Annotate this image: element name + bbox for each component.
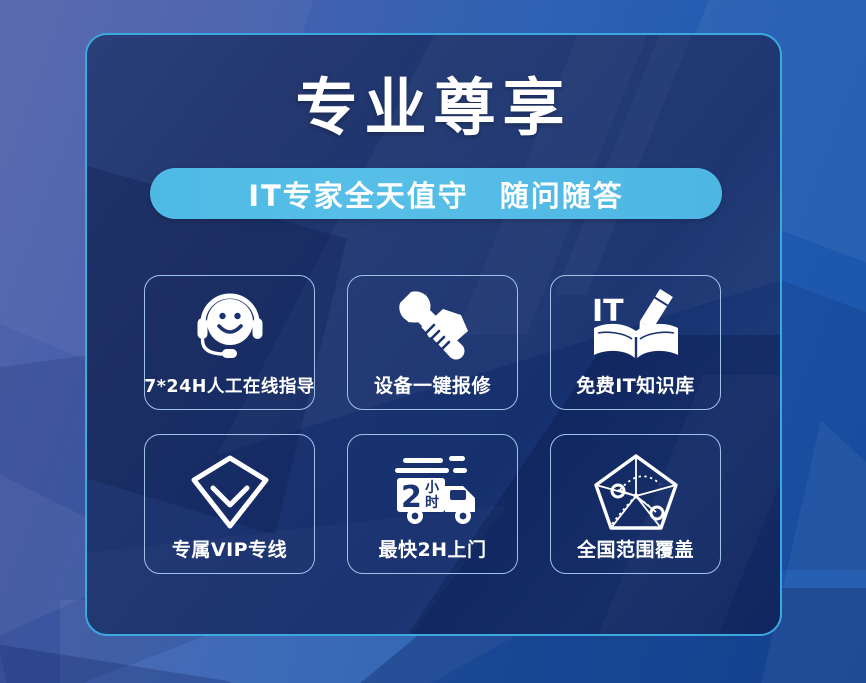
feature-card-label: 免费IT知识库 <box>576 371 695 398</box>
feature-card-online-guidance[interactable]: 7*24H人工在线指导 <box>144 275 315 410</box>
feature-card-label: 专属VIP专线 <box>172 535 287 562</box>
feature-grid: 7*24H人工在线指导 <box>144 275 727 574</box>
feature-card-label: 全国范围覆盖 <box>577 535 694 562</box>
book-pencil-it-icon: IT <box>551 286 720 366</box>
truck-hours-number: 2 <box>401 480 422 515</box>
feature-card-label: 7*24H人工在线指导 <box>144 373 315 398</box>
svg-text:时: 时 <box>425 494 439 511</box>
page-title: 专业尊享 <box>87 77 780 139</box>
svg-text:IT: IT <box>592 294 624 329</box>
feature-card-knowledge-base[interactable]: IT <box>550 275 721 410</box>
panel-inner: 专业尊享 IT专家全天值守 随问随答 <box>87 35 780 634</box>
pentagon-network-icon <box>551 449 720 535</box>
feature-card-nationwide-coverage[interactable]: 全国范围覆盖 <box>550 434 721 574</box>
feature-card-one-click-repair[interactable]: 设备一键报修 <box>347 275 518 410</box>
subtitle-banner: IT专家全天值守 随问随答 <box>150 168 722 219</box>
svg-text:小: 小 <box>425 480 439 496</box>
poster-canvas: 专业尊享 IT专家全天值守 随问随答 <box>0 0 866 683</box>
feature-card-onsite-2h[interactable]: 2 小 时 最快2H上门 <box>347 434 518 574</box>
diamond-icon <box>145 449 314 535</box>
wrench-hand-icon <box>348 286 517 366</box>
feature-card-vip-hotline[interactable]: 专属VIP专线 <box>144 434 315 574</box>
headset-smiley-icon <box>145 286 314 366</box>
subtitle-text: IT专家全天值守 随问随答 <box>248 173 624 215</box>
feature-card-label: 设备一键报修 <box>374 371 491 398</box>
feature-card-label: 最快2H上门 <box>378 535 486 562</box>
main-panel: 专业尊享 IT专家全天值守 随问随答 <box>85 33 782 636</box>
delivery-truck-icon: 2 小 时 <box>348 449 517 535</box>
